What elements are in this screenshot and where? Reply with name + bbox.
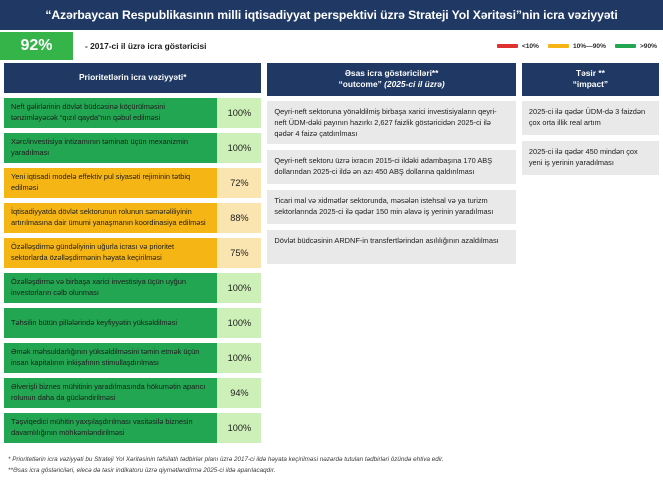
priority-value-3: 72% bbox=[217, 168, 261, 198]
column-header-outcome-line2: “outcome” (2025-ci il üzrə) bbox=[271, 79, 511, 90]
priority-text-9: Əlverişli biznes mühitinin yaradılmasınd… bbox=[4, 378, 217, 408]
priority-row-1[interactable]: Neft gəlirlərinin dövlət büdcəsinə köçür… bbox=[4, 98, 261, 128]
outcome-item-3[interactable]: Ticari mal və xidmətlər sektorunda, məsə… bbox=[267, 190, 515, 224]
priority-value-6: 100% bbox=[217, 273, 261, 303]
priority-value-9: 94% bbox=[217, 378, 261, 408]
column-header-impact-line1: Təsir ** bbox=[526, 68, 655, 79]
priority-value-1: 100% bbox=[217, 98, 261, 128]
column-header-outcome-quoted: “outcome” bbox=[339, 79, 385, 89]
legend-label-red: <10% bbox=[522, 43, 539, 50]
column-header-impact: Təsir ** “impact” bbox=[522, 63, 659, 96]
priority-value-4: 88% bbox=[217, 203, 261, 233]
outcome-items: Qeyri-neft sektoruna yönəldilmiş birbaşa… bbox=[267, 101, 515, 264]
column-header-outcome-line1: Əsas icra göstəriciləri** bbox=[271, 68, 511, 79]
priority-row-8[interactable]: Əmək məhsuldarlığının yüksəldilməsini tə… bbox=[4, 343, 261, 373]
legend-item-red: <10% bbox=[497, 43, 539, 50]
priority-text-8: Əmək məhsuldarlığının yüksəldilməsini tə… bbox=[4, 343, 217, 373]
impact-items: 2025-ci ilə qədər ÜDM-də 3 faizdən çox o… bbox=[522, 101, 659, 175]
priority-text-4: İqtisadiyyatda dövlət sektorunun rolunun… bbox=[4, 203, 217, 233]
board: Prioritetlərin icra vəziyyəti* Neft gəli… bbox=[0, 60, 663, 448]
page-title: “Azərbaycan Respublikasının milli iqtisa… bbox=[45, 8, 617, 22]
column-header-outcome: Əsas icra göstəriciləri** “outcome” (202… bbox=[267, 63, 515, 96]
column-header-priorities: Prioritetlərin icra vəziyyəti* bbox=[4, 63, 261, 93]
column-header-outcome-period: (2025-ci il üzrə) bbox=[384, 79, 445, 89]
legend-label-green: >90% bbox=[640, 43, 657, 50]
legend-label-amber: 10%—90% bbox=[573, 43, 606, 50]
column-priorities: Prioritetlərin icra vəziyyəti* Neft gəli… bbox=[4, 63, 261, 448]
priority-row-6[interactable]: Özəlləşdirmə və birbaşa xarici investisi… bbox=[4, 273, 261, 303]
priority-value-10: 100% bbox=[217, 413, 261, 443]
page-title-bar: “Azərbaycan Respublikasının milli iqtisa… bbox=[0, 0, 663, 32]
outcome-item-4[interactable]: Dövlət büdcəsinin ARDNF-in transfertləri… bbox=[267, 230, 515, 264]
legend-swatch-amber-icon bbox=[548, 44, 569, 48]
priority-value-8: 100% bbox=[217, 343, 261, 373]
footnote-1: * Prioritetlərin icra vəziyyəti bu Strat… bbox=[8, 454, 655, 465]
priority-value-2: 100% bbox=[217, 133, 261, 163]
footnotes: * Prioritetlərin icra vəziyyəti bu Strat… bbox=[8, 454, 655, 476]
priority-text-2: Xərc/investisiya intizamının təminatı üç… bbox=[4, 133, 217, 163]
legend: <10% 10%—90% >90% bbox=[497, 32, 663, 60]
priority-text-7: Təhsilin bütün pillələrində keyfiyyətin … bbox=[4, 308, 217, 338]
priority-row-10[interactable]: Təşviqedici mühitin yaxşılaşdırılması va… bbox=[4, 413, 261, 443]
legend-swatch-red-icon bbox=[497, 44, 518, 48]
legend-item-green: >90% bbox=[615, 43, 657, 50]
priority-text-1: Neft gəlirlərinin dövlət büdcəsinə köçür… bbox=[4, 98, 217, 128]
priority-row-5[interactable]: Özəlləşdirmə gündəliyinin uğurla icrası … bbox=[4, 238, 261, 268]
column-impact: Təsir ** “impact” 2025-ci ilə qədər ÜDM-… bbox=[522, 63, 659, 448]
indicator-strip: 92% - 2017-ci il üzrə icra göstəricisi <… bbox=[0, 32, 663, 60]
impact-item-2[interactable]: 2025-ci ilə qədər 450 mindən çox yeni iş… bbox=[522, 141, 659, 175]
priority-rows: Neft gəlirlərinin dövlət büdcəsinə köçür… bbox=[4, 98, 261, 443]
priority-value-5: 75% bbox=[217, 238, 261, 268]
priority-text-6: Özəlləşdirmə və birbaşa xarici investisi… bbox=[4, 273, 217, 303]
column-header-impact-line2: “impact” bbox=[526, 79, 655, 90]
legend-swatch-green-icon bbox=[615, 44, 636, 48]
priority-row-4[interactable]: İqtisadiyyatda dövlət sektorunun rolunun… bbox=[4, 203, 261, 233]
impact-item-1[interactable]: 2025-ci ilə qədər ÜDM-də 3 faizdən çox o… bbox=[522, 101, 659, 135]
priority-row-2[interactable]: Xərc/investisiya intizamının təminatı üç… bbox=[4, 133, 261, 163]
priority-text-5: Özəlləşdirmə gündəliyinin uğurla icrası … bbox=[4, 238, 217, 268]
priority-row-9[interactable]: Əlverişli biznes mühitinin yaradılmasınd… bbox=[4, 378, 261, 408]
priority-value-7: 100% bbox=[217, 308, 261, 338]
outcome-item-1[interactable]: Qeyri-neft sektoruna yönəldilmiş birbaşa… bbox=[267, 101, 515, 144]
priority-row-3[interactable]: Yeni iqtisadi modelə effektiv pul siyasə… bbox=[4, 168, 261, 198]
indicator-strip-label: - 2017-ci il üzrə icra göstəricisi bbox=[73, 32, 497, 60]
overall-progress-badge: 92% bbox=[0, 32, 73, 60]
outcome-item-2[interactable]: Qeyri-neft sektoru üzrə ixracın 2015-ci … bbox=[267, 150, 515, 184]
priority-text-10: Təşviqedici mühitin yaxşılaşdırılması va… bbox=[4, 413, 217, 443]
column-header-priorities-label: Prioritetlərin icra vəziyyəti* bbox=[8, 72, 257, 83]
priority-text-3: Yeni iqtisadi modelə effektiv pul siyasə… bbox=[4, 168, 217, 198]
legend-item-amber: 10%—90% bbox=[548, 43, 606, 50]
priority-row-7[interactable]: Təhsilin bütün pillələrində keyfiyyətin … bbox=[4, 308, 261, 338]
footnote-2: **Əsas icra göstəriciləri, elecə də təsi… bbox=[8, 465, 655, 476]
column-outcome: Əsas icra göstəriciləri** “outcome” (202… bbox=[267, 63, 515, 448]
